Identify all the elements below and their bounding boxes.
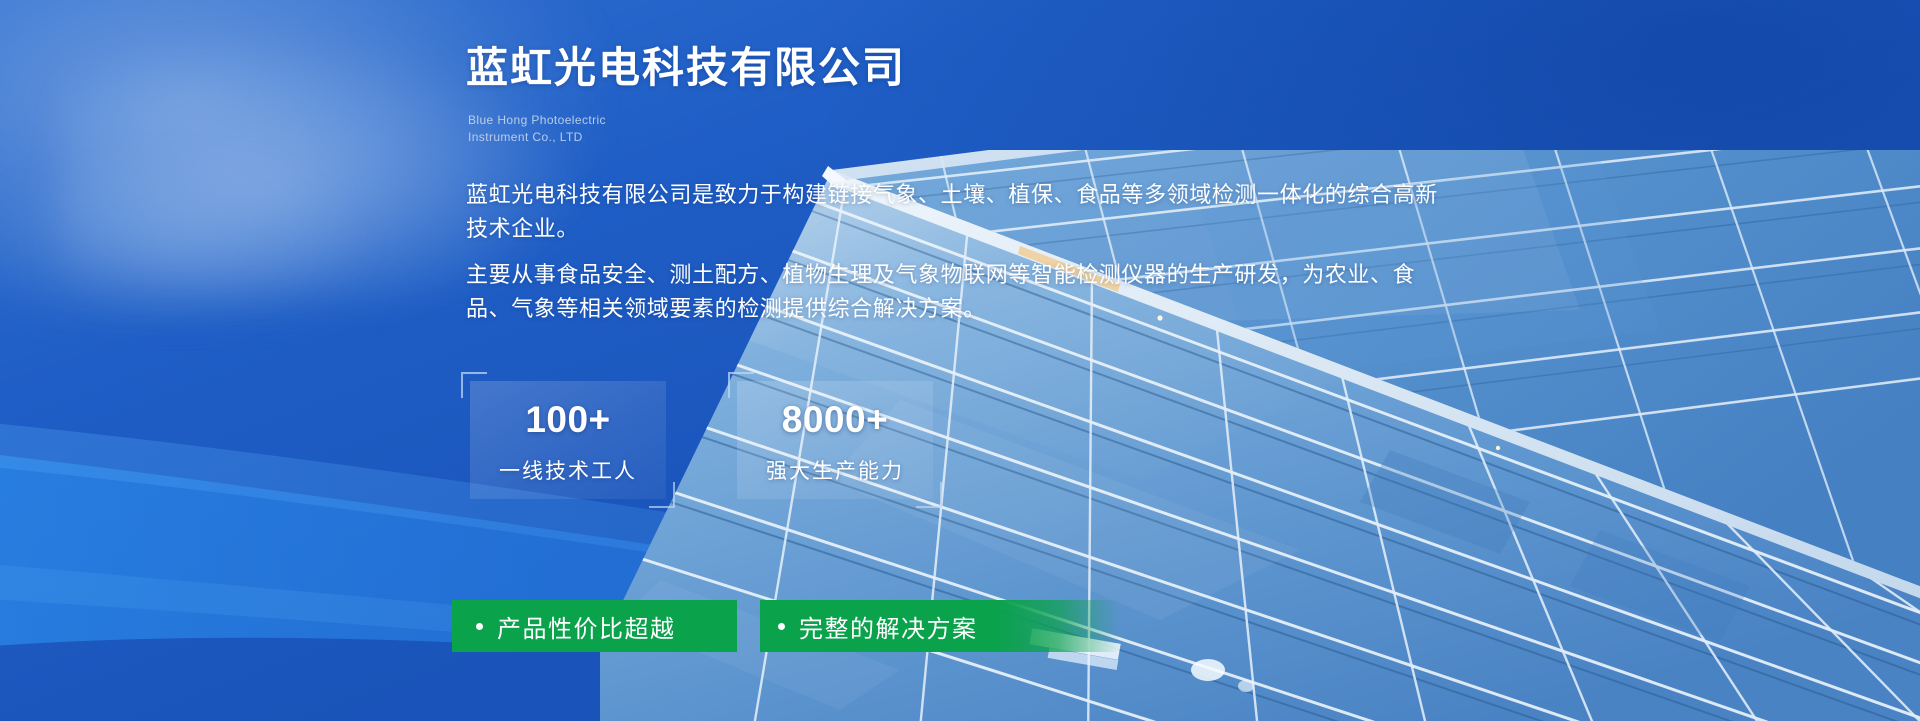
stat-value: 100+ bbox=[470, 399, 666, 441]
brand-subtitle-line-2: Instrument Co., LTD bbox=[468, 129, 606, 146]
hero-content: 蓝虹光电科技有限公司 Blue Hong Photoelectric Instr… bbox=[0, 0, 1920, 721]
stat-value: 8000+ bbox=[737, 399, 933, 441]
corner-bracket-icon bbox=[728, 372, 754, 398]
corner-bracket-icon bbox=[461, 372, 487, 398]
feature-tag-solution: 完整的解决方案 bbox=[760, 600, 1120, 652]
description-paragraph-2: 主要从事食品安全、测土配方、植物生理及气象物联网等智能检测仪器的生产研发，为农业… bbox=[466, 258, 1446, 326]
corner-bracket-icon bbox=[916, 482, 942, 508]
description-paragraph-1: 蓝虹光电科技有限公司是致力于构建链接气象、土壤、植保、食品等多领域检测一体化的综… bbox=[466, 178, 1446, 246]
stat-label: 一线技术工人 bbox=[470, 455, 666, 485]
stat-label: 强大生产能力 bbox=[737, 455, 933, 485]
page-title: 蓝虹光电科技有限公司 bbox=[466, 44, 906, 92]
feature-tag-label: 产品性价比超越 bbox=[497, 609, 676, 644]
bullet-dot-icon bbox=[476, 623, 483, 630]
brand-subtitle-line-1: Blue Hong Photoelectric bbox=[468, 112, 606, 129]
stat-card-capacity: 8000+ 强大生产能力 bbox=[737, 381, 933, 499]
bullet-dot-icon bbox=[778, 623, 785, 630]
corner-bracket-icon bbox=[649, 482, 675, 508]
feature-tag-label: 完整的解决方案 bbox=[799, 609, 978, 644]
hero-banner: 蓝虹光电科技有限公司 Blue Hong Photoelectric Instr… bbox=[0, 0, 1920, 721]
feature-tag-value: 产品性价比超越 bbox=[452, 600, 737, 652]
brand-subtitle: Blue Hong Photoelectric Instrument Co., … bbox=[468, 112, 606, 146]
stat-card-workers: 100+ 一线技术工人 bbox=[470, 381, 666, 499]
